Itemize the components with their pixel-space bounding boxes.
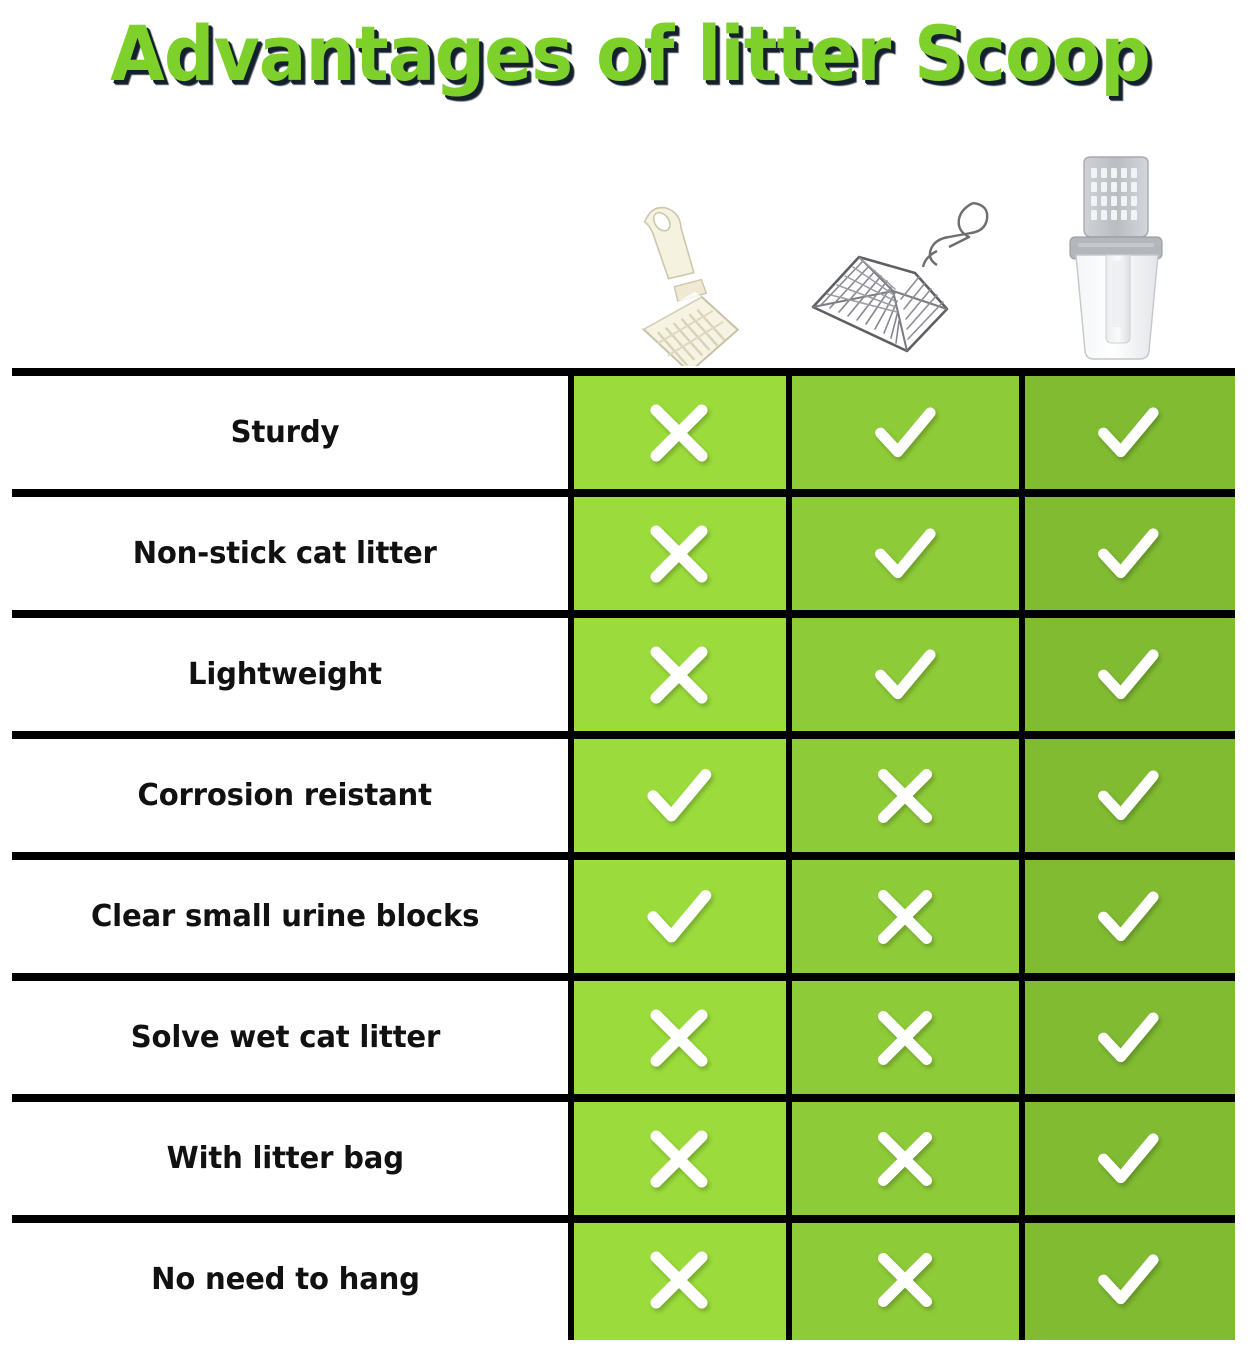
comparison-table: Sturdy Non-stick cat litter Lightweight xyxy=(0,372,1260,1340)
cell-product-2 xyxy=(788,614,1021,735)
row-divider xyxy=(12,973,1235,981)
table-row: With litter bag xyxy=(0,1098,1260,1219)
cell-product-3 xyxy=(1021,1098,1235,1219)
row-divider xyxy=(12,489,1235,497)
metal-wire-scoop-icon xyxy=(797,181,1012,366)
feature-label: No need to hang xyxy=(151,1262,420,1297)
feature-label-cell: With litter bag xyxy=(0,1098,570,1219)
table-row: Corrosion reistant xyxy=(0,735,1260,856)
cell-product-2 xyxy=(788,735,1021,856)
feature-label-cell: Solve wet cat litter xyxy=(0,977,570,1098)
check-icon xyxy=(869,518,941,590)
cell-product-3 xyxy=(1021,856,1235,977)
feature-label: Corrosion reistant xyxy=(138,778,432,813)
cell-product-1 xyxy=(570,1098,788,1219)
cell-product-3 xyxy=(1021,372,1235,493)
cross-icon xyxy=(641,516,717,592)
row-divider xyxy=(12,1215,1235,1223)
product-header-row xyxy=(0,104,1260,372)
cell-product-2 xyxy=(788,1219,1021,1340)
feature-label: With litter bag xyxy=(166,1141,403,1176)
cell-product-2 xyxy=(788,372,1021,493)
cell-product-1 xyxy=(570,977,788,1098)
feature-label-cell: No need to hang xyxy=(0,1219,570,1340)
feature-label: Lightweight xyxy=(188,657,382,692)
cross-icon xyxy=(869,881,941,953)
check-icon xyxy=(641,879,717,955)
check-icon xyxy=(1092,1123,1164,1195)
cell-product-2 xyxy=(788,856,1021,977)
table-row: No need to hang xyxy=(0,1219,1260,1340)
row-divider xyxy=(12,610,1235,618)
cell-product-2 xyxy=(788,977,1021,1098)
check-icon xyxy=(1092,881,1164,953)
column-divider-2 xyxy=(1019,372,1025,1340)
cell-product-1 xyxy=(570,372,788,493)
cell-product-1 xyxy=(570,1219,788,1340)
page-header: Advantages of litter Scoop xyxy=(0,0,1260,104)
check-icon xyxy=(641,758,717,834)
check-icon xyxy=(869,397,941,469)
check-icon xyxy=(1092,397,1164,469)
check-icon xyxy=(1092,760,1164,832)
column-divider-1 xyxy=(786,372,792,1340)
cross-icon xyxy=(869,1244,941,1316)
cell-product-1 xyxy=(570,856,788,977)
feature-label: Sturdy xyxy=(231,415,340,450)
table-row: Sturdy xyxy=(0,372,1260,493)
cell-product-3 xyxy=(1021,614,1235,735)
header-empty-cell xyxy=(0,104,570,372)
cross-icon xyxy=(869,1123,941,1195)
row-divider xyxy=(12,1094,1235,1102)
feature-label: Clear small urine blocks xyxy=(91,899,479,934)
product-image-cell-1 xyxy=(570,104,788,372)
feature-label: Solve wet cat litter xyxy=(130,1020,439,1055)
table-row: Solve wet cat litter xyxy=(0,977,1260,1098)
check-icon xyxy=(1092,1244,1164,1316)
cell-product-1 xyxy=(570,493,788,614)
cell-product-2 xyxy=(788,1098,1021,1219)
cell-product-3 xyxy=(1021,735,1235,856)
check-icon xyxy=(869,639,941,711)
cell-product-3 xyxy=(1021,1219,1235,1340)
product-image-cell-2 xyxy=(788,104,1021,372)
cross-icon xyxy=(641,1121,717,1197)
product-image-cell-3 xyxy=(1021,104,1236,372)
check-icon xyxy=(1092,639,1164,711)
cell-product-3 xyxy=(1021,977,1235,1098)
cross-icon xyxy=(641,637,717,713)
caddy-scoop-icon xyxy=(1054,151,1204,366)
cell-product-1 xyxy=(570,735,788,856)
feature-label-cell: Sturdy xyxy=(0,372,570,493)
table-row: Clear small urine blocks xyxy=(0,856,1260,977)
feature-label-cell: Non-stick cat litter xyxy=(0,493,570,614)
check-icon xyxy=(1092,1002,1164,1074)
row-divider xyxy=(12,731,1235,739)
cell-product-3 xyxy=(1021,493,1235,614)
table-row: Lightweight xyxy=(0,614,1260,735)
cross-icon xyxy=(641,1242,717,1318)
row-divider xyxy=(12,368,1235,376)
cross-icon xyxy=(869,760,941,832)
plastic-scoop-icon xyxy=(579,186,779,366)
cross-icon xyxy=(641,395,717,471)
row-divider xyxy=(12,852,1235,860)
cell-product-1 xyxy=(570,614,788,735)
check-icon xyxy=(1092,518,1164,590)
page-title: Advantages of litter Scoop xyxy=(110,16,1150,92)
feature-label-cell: Corrosion reistant xyxy=(0,735,570,856)
table-row: Non-stick cat litter xyxy=(0,493,1260,614)
cross-icon xyxy=(641,1000,717,1076)
column-divider-0 xyxy=(568,372,574,1340)
cell-product-2 xyxy=(788,493,1021,614)
feature-label-cell: Lightweight xyxy=(0,614,570,735)
feature-label: Non-stick cat litter xyxy=(133,536,437,571)
feature-label-cell: Clear small urine blocks xyxy=(0,856,570,977)
cross-icon xyxy=(869,1002,941,1074)
